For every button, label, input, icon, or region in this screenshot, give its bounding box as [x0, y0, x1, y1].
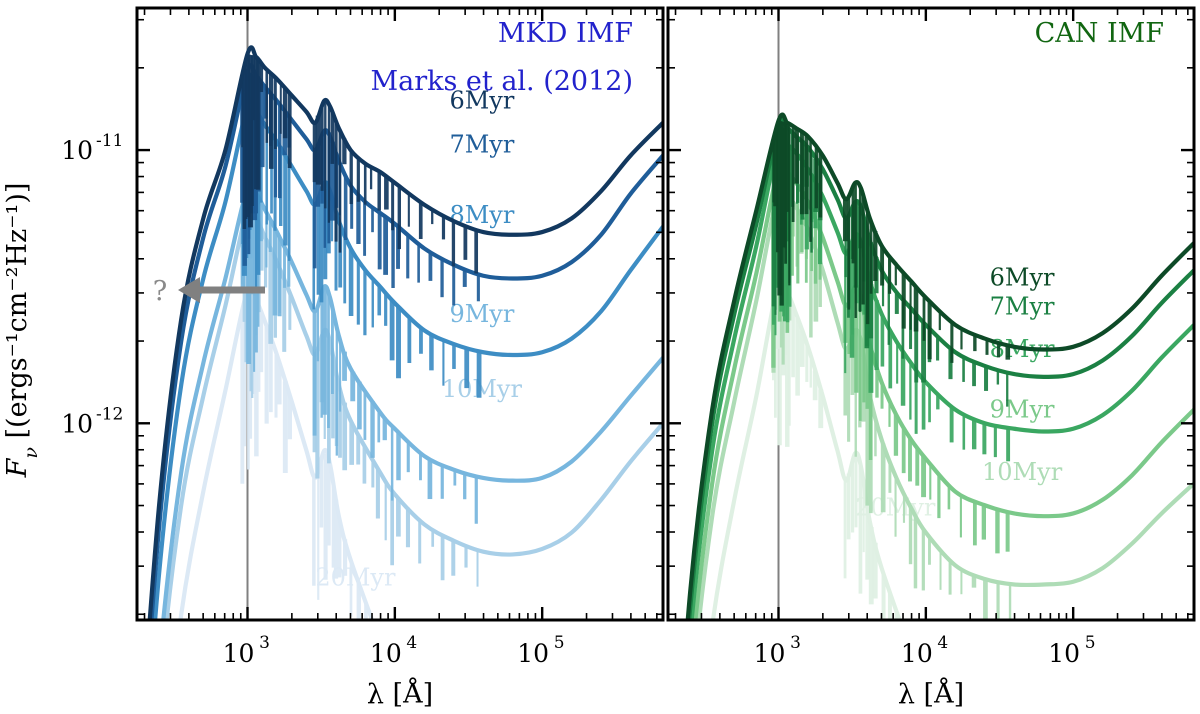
x-tick-label-exponent: 3 — [259, 633, 270, 653]
curve-label-left-20Myr: 20Myr — [315, 563, 396, 591]
x-tick-label: 10 — [223, 639, 255, 668]
sed-chart: 20Myr10Myr9Myr8Myr7Myr6Myr103104105λ [Å]… — [0, 0, 1200, 714]
x-tick-label: 10 — [370, 639, 402, 668]
x-tick-label-exponent: 3 — [790, 633, 801, 653]
x-tick-label: 10 — [754, 639, 786, 668]
x-tick-label: 10 — [901, 639, 933, 668]
curve-label-left-7Myr: 7Myr — [449, 131, 514, 159]
curve-label-right-10Myr: 10Myr — [982, 458, 1063, 486]
y-tick-label: 10 — [61, 409, 93, 438]
panel-title-right: CAN IMF — [1035, 18, 1164, 49]
panel-right: 20Myr10Myr9Myr8Myr7Myr6Myr103104105λ [Å]… — [668, 8, 1194, 714]
panel-subtitle-left: Marks et al. (2012) — [370, 66, 633, 97]
curve-label-right-7Myr: 7Myr — [990, 293, 1055, 321]
y-tick-label-exponent: -12 — [96, 404, 123, 424]
curve-label-left-9Myr: 9Myr — [449, 300, 514, 328]
curve-label-right-6Myr: 6Myr — [990, 263, 1055, 291]
x-tick-label-exponent: 4 — [406, 633, 417, 653]
panel-title-left: MKD IMF — [498, 18, 633, 49]
x-axis-title-left: λ [Å] — [367, 677, 433, 710]
figure-root: 20Myr10Myr9Myr8Myr7Myr6Myr103104105λ [Å]… — [0, 0, 1200, 714]
x-tick-label-exponent: 4 — [937, 633, 948, 653]
annotation-question-mark: ? — [153, 276, 167, 307]
curve-label-right-9Myr: 9Myr — [990, 396, 1055, 424]
panel-left: 20Myr10Myr9Myr8Myr7Myr6Myr103104105λ [Å]… — [137, 8, 663, 714]
x-tick-label: 10 — [517, 639, 549, 668]
y-tick-label-exponent: -11 — [96, 131, 123, 151]
x-tick-label: 10 — [1048, 639, 1080, 668]
x-tick-label-exponent: 5 — [1085, 633, 1096, 653]
x-tick-label-exponent: 5 — [554, 633, 565, 653]
curve-label-left-10Myr: 10Myr — [442, 375, 523, 403]
x-axis-title-right: λ [Å] — [898, 677, 964, 710]
y-tick-label: 10 — [61, 136, 93, 165]
